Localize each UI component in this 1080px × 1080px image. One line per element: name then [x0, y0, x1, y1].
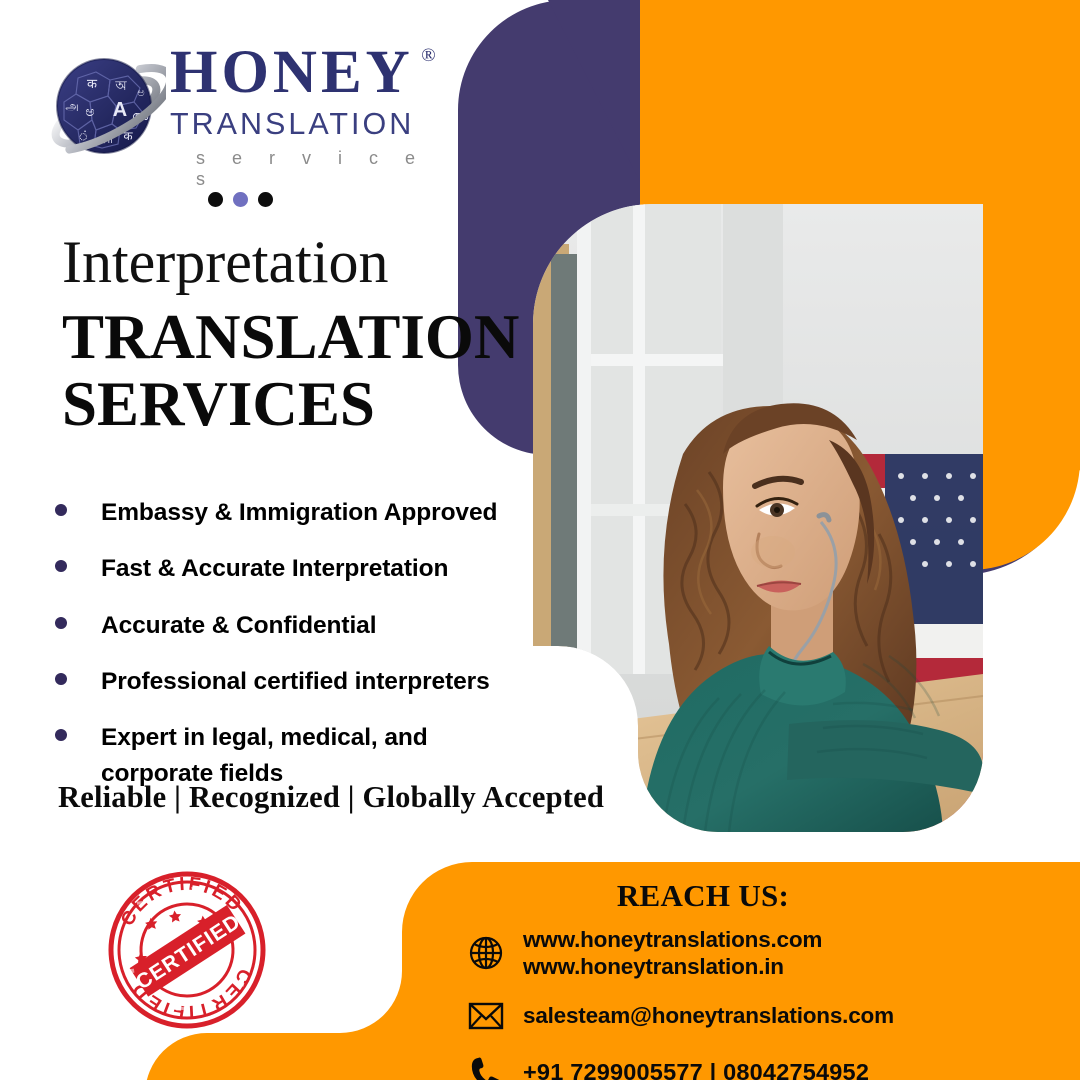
- svg-text:A: A: [113, 99, 127, 121]
- reach-us-heading: REACH US:: [493, 878, 913, 914]
- bullet-dot-icon: [55, 617, 67, 629]
- phone-text: +91 7299005577 | 08042754952: [523, 1058, 869, 1080]
- globe-icon: [465, 932, 507, 974]
- website-text: www.honeytranslations.com www.honeytrans…: [523, 926, 822, 981]
- bullet-dot-icon: [55, 729, 67, 741]
- contact-row-email[interactable]: salesteam@honeytranslations.com: [465, 995, 1065, 1037]
- dot-1: [208, 192, 223, 207]
- brand-name-primary: HONEY®: [170, 42, 414, 104]
- phone-icon: [465, 1051, 507, 1080]
- interpreter-at-desk-photo: [533, 204, 983, 832]
- headline-block: Interpretation TRANSLATION SERVICES: [62, 232, 532, 439]
- svg-text:அ: அ: [65, 99, 78, 113]
- poster-canvas: क অ ಅ அ ಅ A അ ் ா क HONEY®: [0, 0, 1080, 1080]
- list-item: Accurate & Confidential: [55, 608, 535, 644]
- website-line-2: www.honeytranslation.in: [523, 953, 822, 980]
- dot-2: [233, 192, 248, 207]
- bullet-dot-icon: [55, 673, 67, 685]
- list-item: Embassy & Immigration Approved: [55, 495, 535, 531]
- headline-line-1: TRANSLATION: [62, 304, 532, 371]
- brand-name-secondary: TRANSLATION: [170, 105, 450, 144]
- envelope-icon: [465, 995, 507, 1037]
- bullet-dot-icon: [55, 560, 67, 572]
- brand-name-tertiary: s e r v i c e s: [170, 148, 450, 190]
- headline-kicker: Interpretation: [62, 232, 532, 292]
- feature-text: Fast & Accurate Interpretation: [101, 551, 448, 587]
- brand-name-primary-text: HONEY: [170, 39, 414, 106]
- dot-3: [258, 192, 273, 207]
- svg-text:অ: অ: [114, 78, 127, 93]
- feature-text: Embassy & Immigration Approved: [101, 495, 497, 531]
- contact-row-phone[interactable]: +91 7299005577 | 08042754952: [465, 1051, 1065, 1080]
- list-item: Fast & Accurate Interpretation: [55, 551, 535, 587]
- registered-mark: ®: [421, 46, 435, 65]
- svg-text:क: क: [87, 76, 98, 91]
- email-text: salesteam@honeytranslations.com: [523, 1002, 894, 1029]
- feature-list: Embassy & Immigration Approved Fast & Ac…: [55, 495, 535, 813]
- brand-wordmark: HONEY® TRANSLATION s e r v i c e s: [170, 42, 450, 190]
- contact-row-website[interactable]: www.honeytranslations.com www.honeytrans…: [465, 926, 1065, 981]
- language-globe-icon: क অ ಅ அ ಅ A അ ் ா क: [48, 50, 166, 168]
- svg-text:ಅ: ಅ: [137, 87, 144, 99]
- headline-line-2: SERVICES: [62, 371, 532, 438]
- bullet-dot-icon: [55, 504, 67, 516]
- feature-text: Professional certified interpreters: [101, 664, 490, 700]
- list-item: Professional certified interpreters: [55, 664, 535, 700]
- brand-logo: क অ ಅ அ ಅ A അ ் ா क HONEY®: [48, 42, 448, 177]
- svg-text:ಅ: ಅ: [85, 103, 94, 119]
- contact-section: REACH US: www.honeytranslations.com www.…: [140, 862, 1080, 1080]
- website-line-1: www.honeytranslations.com: [523, 927, 822, 952]
- tagline: Reliable | Recognized | Globally Accepte…: [58, 780, 604, 815]
- decorative-dots: [208, 192, 273, 207]
- feature-text: Accurate & Confidential: [101, 608, 376, 644]
